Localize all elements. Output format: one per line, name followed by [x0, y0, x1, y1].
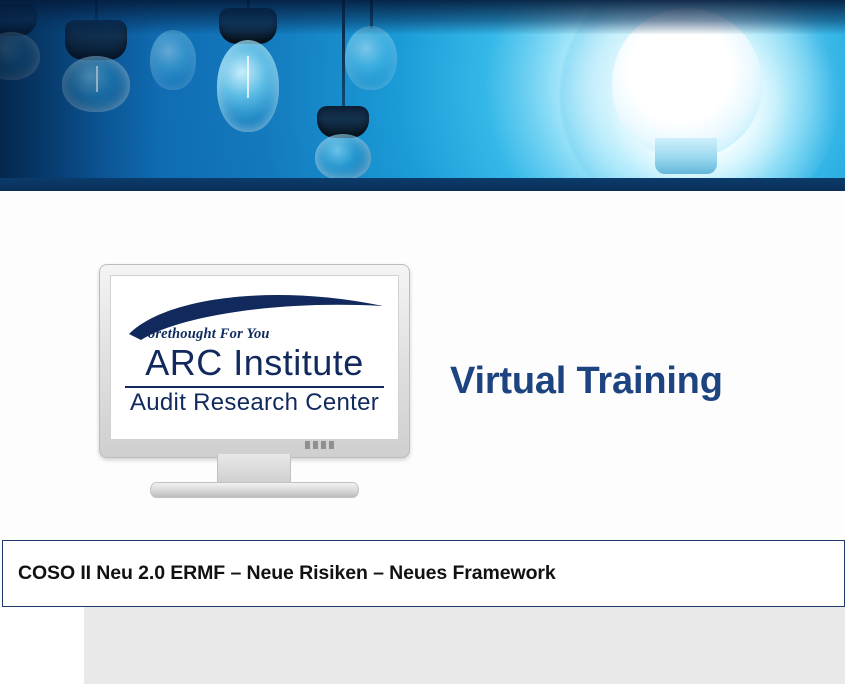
monitor-screen: Forethought For You ARC Institute Audit …	[110, 275, 399, 440]
title-bar-text: COSO II Neu 2.0 ERMF – Neue Risiken – Ne…	[3, 562, 556, 585]
footer-left-block	[0, 607, 84, 684]
monitor-stand-base	[150, 482, 359, 498]
logo-divider	[125, 386, 384, 388]
bulb-filament-3	[247, 56, 249, 98]
footer-area	[0, 607, 845, 684]
bulb-glass-5	[345, 26, 397, 90]
logo-name: ARC Institute	[123, 342, 386, 384]
headline-virtual-training: Virtual Training	[450, 360, 723, 403]
title-bar: COSO II Neu 2.0 ERMF – Neue Risiken – Ne…	[2, 540, 845, 607]
monitor-frame: Forethought For You ARC Institute Audit …	[99, 264, 410, 458]
bulb-glass-4	[315, 134, 371, 180]
monitor-graphic: Forethought For You ARC Institute Audit …	[99, 264, 408, 495]
glowing-bulb-base	[655, 138, 717, 174]
arc-institute-logo: Forethought For You ARC Institute Audit …	[111, 276, 398, 439]
monitor-indicator-dots	[305, 441, 339, 449]
logo-tagline: Forethought For You	[138, 326, 270, 343]
logo-subtitle: Audit Research Center	[123, 389, 386, 417]
banner-image	[0, 0, 845, 191]
banner-bottom-bar	[0, 178, 845, 191]
slide: Forethought For You ARC Institute Audit …	[0, 0, 845, 684]
banner-top-shadow	[0, 0, 845, 34]
